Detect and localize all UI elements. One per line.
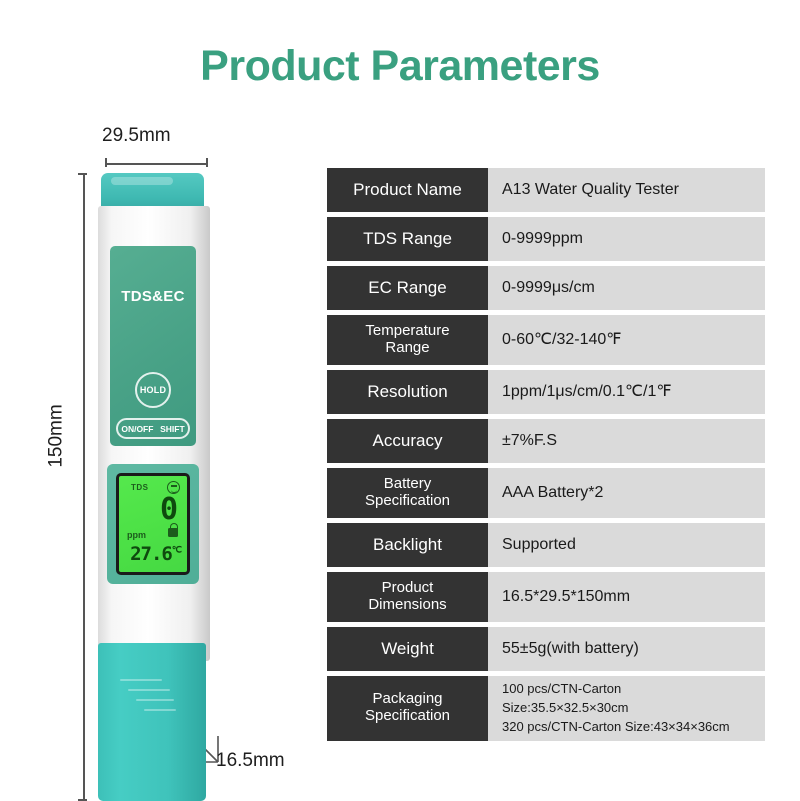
spec-label: EC Range [327,266,488,310]
spec-label-line-1: Packaging [372,690,442,707]
spec-label-line-2: Range [385,339,429,356]
table-row: Temperature Range 0-60℃/32-140℉ [327,315,765,365]
specification-table: Product Name A13 Water Quality Tester TD… [327,168,765,746]
lcd-temperature-unit: ℃ [172,545,182,555]
table-row: Resolution 1ppm/1μs/cm/0.1℃/1℉ [327,370,765,414]
cap-highlight [111,177,173,185]
table-row: Backlight Supported [327,523,765,567]
device-body: TDS&EC HOLD ON/OFF SHIFT TDS 0 ppm [98,206,210,661]
spec-value: 1ppm/1μs/cm/0.1℃/1℉ [488,370,765,414]
table-row: Accuracy ±7%F.S [327,419,765,463]
table-row: Weight 55±5g(with battery) [327,627,765,671]
spec-label-line-1: Product [382,579,434,596]
spec-value: 0-9999ppm [488,217,765,261]
spec-label-line-1: Temperature [365,322,449,339]
shift-button-label: SHIFT [160,424,185,434]
spec-label: Resolution [327,370,488,414]
ridge-line [136,699,174,701]
device-front-panel: TDS&EC HOLD ON/OFF SHIFT [110,246,196,446]
device-brand-label: TDS&EC [110,288,196,305]
ridge-line [144,709,176,711]
spec-label: Accuracy [327,419,488,463]
spec-label: Product Name [327,168,488,212]
spec-label: Weight [327,627,488,671]
spec-value: 100 pcs/CTN-Carton Size:35.5×32.5×30cm 3… [488,676,765,741]
table-row: Product Dimensions 16.5*29.5*150mm [327,572,765,622]
lcd-bezel: TDS 0 ppm 27.6℃ [107,464,199,584]
power-button-label: ON/OFF [121,424,153,434]
spec-label-line-2: Specification [365,707,450,724]
dimension-width-line [105,158,208,167]
dimension-depth-label: 16.5mm [216,750,285,772]
spec-value: AAA Battery*2 [488,468,765,518]
spec-label-line-1: Battery [384,475,432,492]
product-illustration: 29.5mm 150mm 16.5mm TDS&EC HOLD ON/OFF S… [30,125,315,785]
spec-value-line-1: 100 pcs/CTN-Carton Size:35.5×32.5×30cm [502,680,751,718]
lock-icon [168,528,178,537]
table-row: Battery Specification AAA Battery*2 [327,468,765,518]
ridge-line [120,679,162,681]
power-shift-button-group[interactable]: ON/OFF SHIFT [116,418,190,439]
lcd-temperature-group: 27.6℃ [124,540,188,567]
dimension-height-label: 150mm [46,404,68,467]
table-row: Packaging Specification 100 pcs/CTN-Cart… [327,676,765,741]
hold-button-label: HOLD [140,385,166,395]
hold-button[interactable]: HOLD [135,372,171,408]
spec-value-line-2: 320 pcs/CTN-Carton Size:43×34×36cm [502,718,751,737]
table-row: TDS Range 0-9999ppm [327,217,765,261]
spec-value: 0-9999μs/cm [488,266,765,310]
spec-label: Temperature Range [327,315,488,365]
lcd-reading-value: 0 [160,495,178,525]
spec-value: 0-60℃/32-140℉ [488,315,765,365]
spec-value: ±7%F.S [488,419,765,463]
water-quality-tester-device: TDS&EC HOLD ON/OFF SHIFT TDS 0 ppm [98,173,210,801]
spec-value: 55±5g(with battery) [488,627,765,671]
spec-label-line-2: Dimensions [368,596,446,613]
spec-label-line-2: Specification [365,492,450,509]
spec-value: Supported [488,523,765,567]
dimension-width-label: 29.5mm [102,125,171,147]
page-title: Product Parameters [0,42,800,91]
spec-label: Battery Specification [327,468,488,518]
lcd-temperature-value: 27.6 [130,543,172,565]
ridge-line [128,689,170,691]
spec-value: 16.5*29.5*150mm [488,572,765,622]
lcd-mode-label: TDS [131,483,149,492]
spec-label: TDS Range [327,217,488,261]
table-row: Product Name A13 Water Quality Tester [327,168,765,212]
lcd-unit-label: ppm [127,530,146,540]
lcd-display: TDS 0 ppm 27.6℃ [116,473,190,575]
table-row: EC Range 0-9999μs/cm [327,266,765,310]
spec-label: Product Dimensions [327,572,488,622]
spec-label: Backlight [327,523,488,567]
dimension-height-line [78,173,87,801]
spec-label: Packaging Specification [327,676,488,741]
spec-value: A13 Water Quality Tester [488,168,765,212]
device-probe-cover [98,643,206,801]
